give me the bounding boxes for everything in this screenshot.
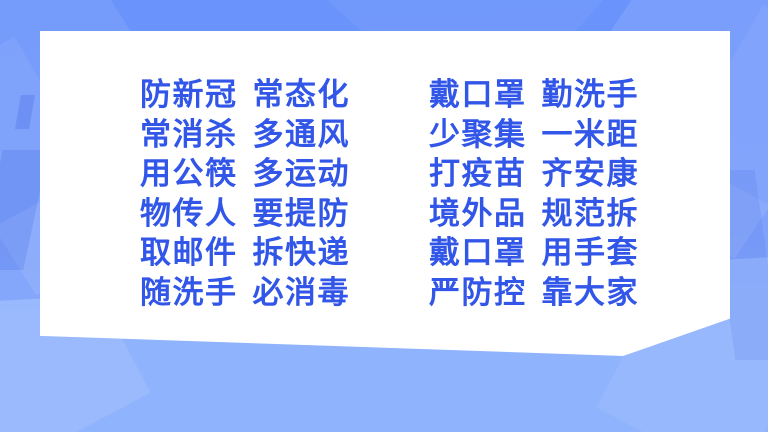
slogan-phrase: 戴口罩: [429, 80, 527, 111]
slogan-phrase: 一米距: [542, 120, 640, 151]
slogan-row-left-2: 常消杀 多通风: [140, 116, 391, 156]
slogan-row-right-3: 打疫苗 齐安康: [421, 155, 672, 195]
slogan-phrase: 规范拆: [542, 199, 640, 230]
poster-stage: 防新冠 常态化 戴口罩 勤洗手 常消杀 多通风 少聚集 一米距 用公筷 多运动 …: [0, 0, 768, 432]
slogan-phrase: 多通风: [253, 120, 351, 151]
slogan-phrase: 常消杀: [140, 120, 238, 151]
slogan-row-right-1: 戴口罩 勤洗手: [421, 76, 672, 116]
slogan-phrase: 少聚集: [429, 120, 527, 151]
slogan-row-right-2: 少聚集 一米距: [421, 116, 672, 156]
slogan-phrase: 境外品: [429, 199, 527, 230]
slogan-row-right-6: 严防控 靠大家: [421, 274, 672, 314]
slogan-phrase: 勤洗手: [542, 80, 640, 111]
slogan-phrase: 要提防: [253, 199, 351, 230]
slogan-phrase: 多运动: [253, 159, 351, 190]
slogan-phrase: 打疫苗: [429, 159, 527, 190]
slogan-phrase: 严防控: [429, 278, 527, 309]
slogan-row-right-4: 境外品 规范拆: [421, 195, 672, 235]
slogan-row-left-5: 取邮件 拆快递: [140, 234, 391, 274]
slogan-phrase: 必消毒: [253, 278, 351, 309]
slogan-row-left-3: 用公筷 多运动: [140, 155, 391, 195]
slogan-phrase: 拆快递: [253, 238, 351, 269]
slogan-phrase: 常态化: [253, 80, 351, 111]
slogan-row-left-1: 防新冠 常态化: [140, 76, 391, 116]
slogan-phrase: 齐安康: [542, 159, 640, 190]
slogan-phrase: 戴口罩: [429, 238, 527, 269]
slogan-phrase: 随洗手: [140, 278, 238, 309]
slogan-phrase: 防新冠: [140, 80, 238, 111]
slogan-phrase: 物传人: [140, 199, 238, 230]
slogan-phrase: 取邮件: [140, 238, 238, 269]
slogan-row-right-5: 戴口罩 用手套: [421, 234, 672, 274]
slogan-phrase: 靠大家: [542, 278, 640, 309]
slogan-grid: 防新冠 常态化 戴口罩 勤洗手 常消杀 多通风 少聚集 一米距 用公筷 多运动 …: [40, 31, 730, 331]
slogan-row-left-6: 随洗手 必消毒: [140, 274, 391, 314]
slogan-phrase: 用手套: [542, 238, 640, 269]
slogan-phrase: 用公筷: [140, 159, 238, 190]
slogan-row-left-4: 物传人 要提防: [140, 195, 391, 235]
